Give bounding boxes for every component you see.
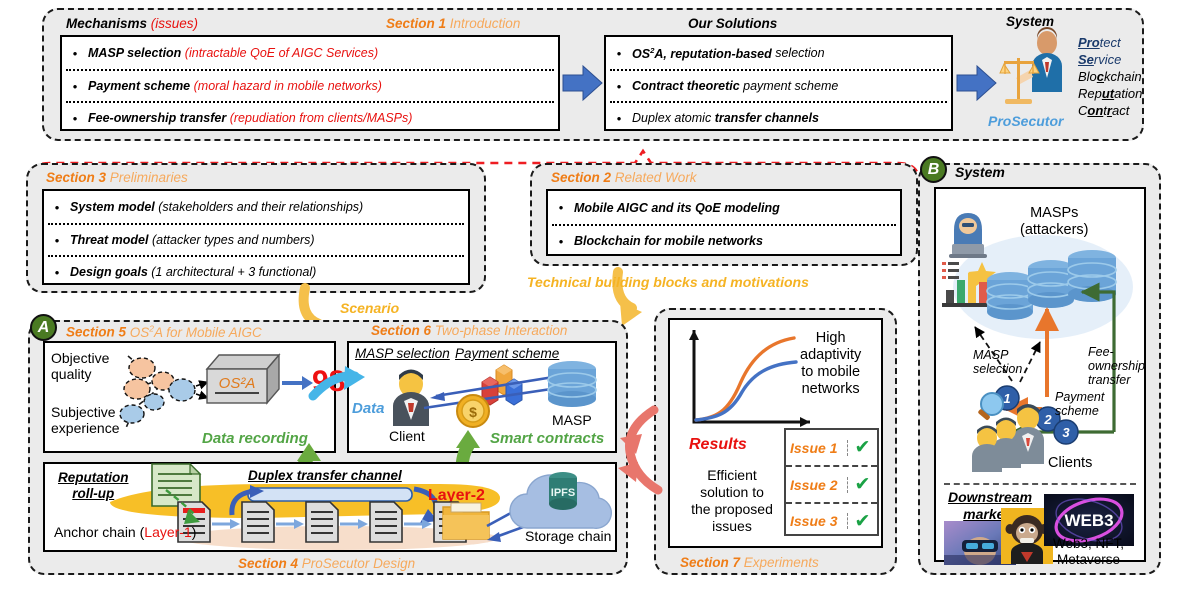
arrow-mechanisms-to-solutions [563, 66, 603, 104]
anchor-chain-label: Anchor chain (Layer-1) [54, 524, 196, 540]
storage-chain-label: Storage chain [525, 528, 611, 544]
section6-title-bold: Section 6 [371, 323, 431, 338]
solution-label: Contract theoretic [632, 79, 740, 93]
section4-title-rest: ProSecutor Design [298, 556, 415, 571]
bullet-icon: • [548, 235, 574, 248]
sectionB-title: System [955, 164, 1005, 180]
chart-caption: High adaptivity to mobile networks [800, 330, 861, 398]
bullet-icon: • [606, 47, 632, 60]
table-row: • Threat model (attacker types and numbe… [44, 225, 468, 255]
data-label: Data [352, 400, 385, 417]
mechanism-issue: (moral hazard in mobile networks) [194, 79, 382, 93]
prosecutor-judge-icon [1000, 30, 1078, 112]
solution-label: OS2A, reputation-based [632, 47, 772, 61]
bullet-icon: • [606, 80, 632, 93]
section4-title-bold: Section 4 [238, 556, 298, 571]
item-label: Blockchain for mobile networks [574, 234, 763, 248]
arrow-os2a-to-score [282, 376, 314, 390]
item-label: System model [70, 200, 155, 214]
anchor-chain-post: ) [192, 524, 197, 540]
efficient-solution-text: Efficient solution to the proposed issue… [676, 467, 788, 535]
issue-label: Issue 1 [786, 440, 848, 456]
item-rest: (stakeholders and their relationships) [155, 200, 363, 214]
anchor-chain-pre: Anchor chain ( [54, 524, 144, 540]
prosecutor-acronym: Protect Service Blockchain Reputation Co… [1078, 34, 1142, 119]
mechanism-issue: (intractable QoE of AIGC Services) [185, 46, 378, 60]
table-row: • Contract theoretic payment scheme [606, 71, 951, 101]
solution-pre: Duplex atomic [632, 111, 715, 125]
table-row: • Design goals (1 architectural + 3 func… [44, 257, 468, 287]
web3-logo-text: WEB3 [1064, 511, 1113, 530]
system-header: System [1006, 14, 1054, 29]
section7-title: Section 7 Experiments [680, 555, 819, 570]
mechanism-label: MASP selection [88, 46, 181, 60]
table-row: • System model (stakeholders and their r… [44, 191, 468, 223]
bullet-icon: • [44, 201, 70, 214]
ipfs-label: IPFS [551, 487, 575, 499]
section4-title: Section 4 ProSecutor Design [238, 556, 415, 571]
masp-selection-label: MASP selection [355, 346, 450, 361]
item-rest: (attacker types and numbers) [149, 233, 315, 247]
check-icon: ✔ [848, 436, 877, 459]
mechanisms-header-rest: (issues) [147, 16, 198, 31]
results-label: Results [689, 436, 747, 454]
mechanisms-header-bold: Mechanisms [66, 16, 147, 31]
item-rest: (1 architectural + 3 functional) [148, 265, 317, 279]
section2-title: Section 2 Related Work [551, 170, 697, 185]
table-row: • OS2A, reputation-based selection [606, 37, 951, 69]
table-row: • Payment scheme (moral hazard in mobile… [62, 71, 558, 101]
bullet-icon: • [62, 80, 88, 93]
section5-title-rest: OS2A for Mobile AIGC [126, 325, 262, 340]
section1-title: Section 1 Introduction [386, 16, 520, 31]
issue-label: Issue 3 [786, 513, 848, 529]
arrow-solutions-to-system [957, 66, 997, 104]
bullet-icon: • [44, 266, 70, 279]
smart-contracts-label: Smart contracts [490, 430, 604, 447]
sectionB-badge: B [920, 156, 947, 183]
os2a-box-icon: OS²A [207, 355, 285, 413]
blue-curved-arrow-data [313, 366, 369, 404]
section6-title: Section 6 Two-phase Interaction [371, 323, 567, 338]
mechanism-label: Payment scheme [88, 79, 190, 93]
clients-label: Clients [1048, 455, 1092, 471]
red-connector-arrows [612, 408, 668, 496]
mechanisms-table: • MASP selection (intractable QoE of AIG… [60, 35, 560, 131]
issue-row: Issue 2 ✔ [786, 467, 877, 504]
acronym-line: Blockchain [1078, 68, 1142, 85]
acronym-line: Service [1078, 51, 1142, 68]
check-icon: ✔ [848, 510, 877, 533]
table-row: • Mobile AIGC and its QoE modeling [548, 191, 900, 224]
anchor-chain-layer: Layer-1 [144, 524, 191, 540]
solution-rest: selection [772, 47, 825, 61]
folder-icon [443, 501, 489, 541]
mechanism-label: Fee-ownership transfer [88, 111, 226, 125]
sectionA-badge: A [30, 314, 57, 341]
magnifier-icon [977, 393, 1003, 421]
item-label: Threat model [70, 233, 149, 247]
client-label: Client [389, 428, 425, 444]
issue-row: Issue 3 ✔ [786, 504, 877, 538]
section6-title-rest: Two-phase Interaction [431, 323, 567, 338]
solution-label: transfer channels [715, 111, 819, 125]
section5-title-bold: Section 5 [66, 325, 126, 340]
prosecutor-label: ProSecutor [988, 113, 1063, 129]
acronym-line: Reputation [1078, 85, 1142, 102]
markets-caption: Web3, NFT, Metaverse [1053, 536, 1124, 568]
masp-selection-label-B: MASP selection [973, 348, 1022, 376]
bullet-icon: • [62, 112, 88, 125]
table-row: • Fee-ownership transfer (repudiation fr… [62, 103, 558, 133]
section1-title-rest: Introduction [446, 16, 520, 31]
solutions-table: • OS2A, reputation-based selection • Con… [604, 35, 953, 131]
coin-symbol: $ [469, 404, 477, 420]
item-label: Design goals [70, 265, 148, 279]
solutions-header: Our Solutions [688, 16, 777, 31]
storage-cloud-icon: IPFS [505, 470, 613, 532]
mechanisms-header: Mechanisms (issues) [66, 16, 198, 31]
section3-table: • System model (stakeholders and their r… [42, 189, 470, 285]
section2-table: • Mobile AIGC and its QoE modeling • Blo… [546, 189, 902, 256]
acronym-line: Protect [1078, 34, 1142, 51]
adaptivity-chart [678, 326, 818, 436]
divider [944, 483, 1136, 485]
table-row: • Blockchain for mobile networks [548, 226, 900, 256]
bullet-icon: • [548, 201, 574, 214]
issue-label: Issue 2 [786, 477, 848, 493]
section5-title: Section 5 OS2A for Mobile AIGC [66, 323, 262, 340]
section3-title: Section 3 Preliminaries [46, 170, 188, 185]
section3-title-rest: Preliminaries [106, 170, 188, 185]
technical-building-blocks-label: Technical building blocks and motivation… [527, 274, 809, 290]
section1-title-bold: Section 1 [386, 16, 446, 31]
bullet-icon: • [44, 234, 70, 247]
rollup-green-dashed-arrow [166, 490, 214, 524]
mechanism-issue: (repudiation from clients/MASPs) [230, 111, 413, 125]
check-icon: ✔ [848, 473, 877, 496]
item-label: Mobile AIGC and its QoE modeling [574, 201, 780, 215]
fee-ownership-label-B: Fee- ownership transfer [1088, 345, 1145, 387]
masp-database-icon [544, 359, 600, 413]
coin-icon: $ [455, 393, 491, 429]
bullet-icon: • [606, 112, 632, 125]
masp-label: MASP [552, 412, 592, 428]
section2-title-bold: Section 2 [551, 170, 611, 185]
section7-title-rest: Experiments [740, 555, 819, 570]
issues-table: Issue 1 ✔ Issue 2 ✔ Issue 3 ✔ [784, 428, 879, 536]
os2a-box-text: OS²A [219, 375, 256, 392]
bullet-icon: • [62, 47, 88, 60]
issue-row: Issue 1 ✔ [786, 430, 877, 467]
section3-title-bold: Section 3 [46, 170, 106, 185]
section7-title-bold: Section 7 [680, 555, 740, 570]
objective-quality-label: Objective quality [51, 350, 109, 382]
scenario-label: Scenario [340, 300, 399, 316]
table-row: • Duplex atomic transfer channels [606, 103, 951, 133]
duplex-channel-label: Duplex transfer channel [248, 468, 402, 483]
table-row: • MASP selection (intractable QoE of AIG… [62, 37, 558, 69]
solution-rest: payment scheme [740, 79, 839, 93]
acronym-line: Contract [1078, 102, 1142, 119]
section2-title-rest: Related Work [611, 170, 697, 185]
